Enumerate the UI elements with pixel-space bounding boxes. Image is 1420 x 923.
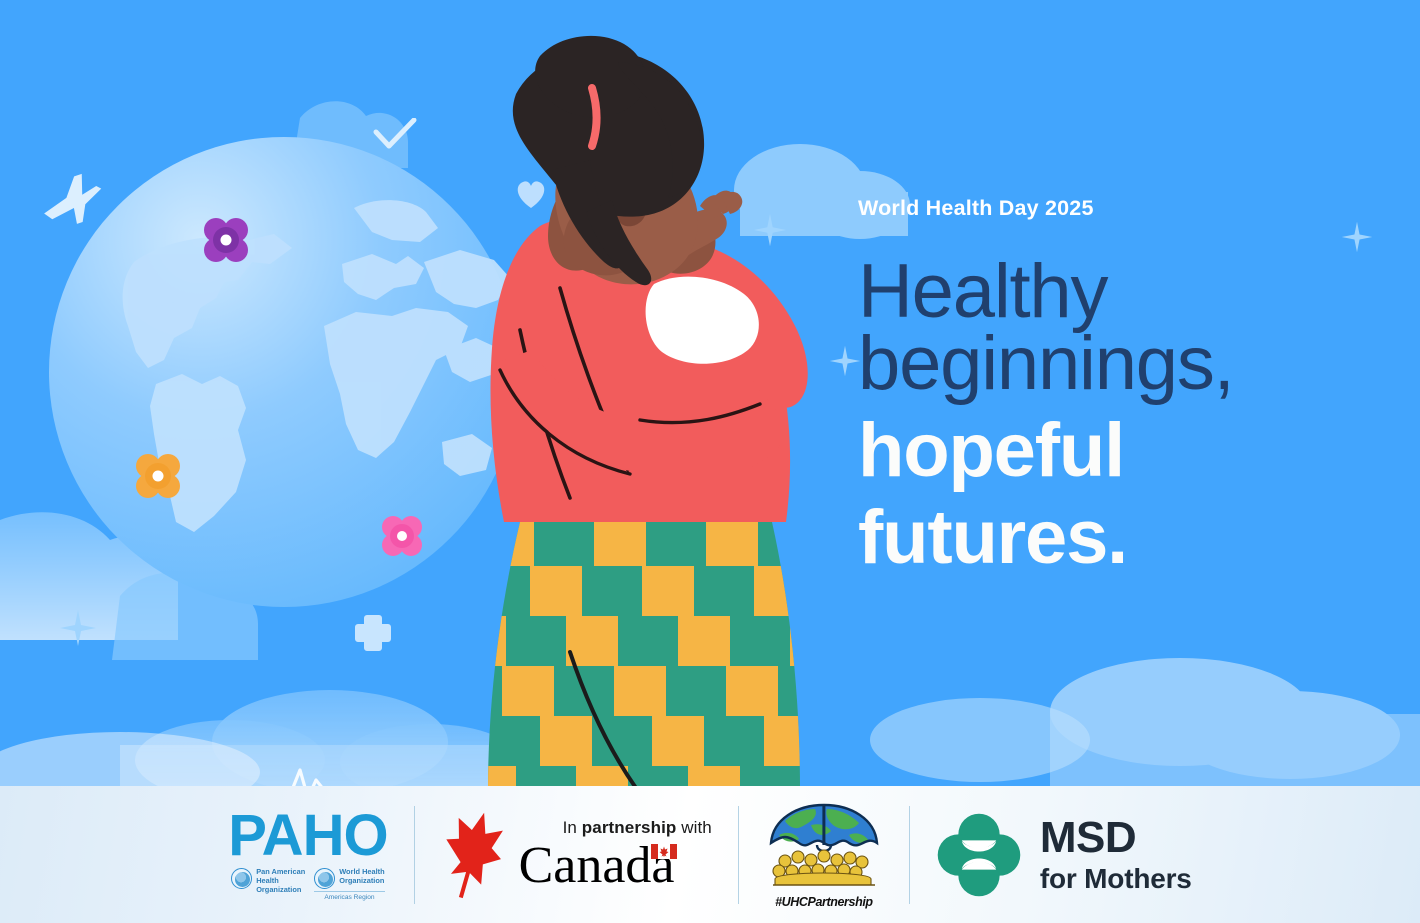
msd-wordmark: MSD [1040, 816, 1192, 860]
banner-text-block: World Health Day 2025 Healthy beginnings… [858, 198, 1338, 575]
who-org-lines: World Health Organization [339, 867, 384, 885]
paho-wordmark: PAHO [228, 808, 387, 863]
headline-line-4: futures. [858, 502, 1338, 575]
paho-seal-icon [231, 868, 252, 889]
who-region-label: Americas Region [314, 891, 384, 901]
partner-logo-bar: PAHO Pan American Health Organization [0, 786, 1420, 923]
who-seal-icon [314, 868, 335, 889]
canada-partnership-label: In partnership with [563, 818, 712, 838]
msd-subtitle: for Mothers [1040, 865, 1192, 893]
headline-line-3: hopeful [858, 415, 1338, 488]
logo-msd-for-mothers[interactable]: MSD for Mothers [910, 800, 1218, 910]
eyebrow-label: World Health Day 2025 [858, 198, 1338, 220]
who-mark: World Health Organization Americas Regio… [314, 867, 384, 901]
canada-wordmark: Canada [519, 840, 675, 892]
skirt [428, 516, 842, 790]
logo-paho[interactable]: PAHO Pan American Health Organization [202, 800, 413, 910]
pan-american-health-organization-mark: Pan American Health Organization [231, 867, 305, 894]
headline-line-1: Healthy [858, 256, 1338, 329]
headline-line-2: beginnings, [858, 328, 1338, 401]
uhc-hashtag-label: #UHCPartnership [775, 895, 873, 909]
logo-uhc-partnership[interactable]: #UHCPartnership [739, 800, 909, 910]
logo-canada[interactable]: In partnership with Canada [415, 800, 738, 910]
banner-canvas: World Health Day 2025 Healthy beginnings… [0, 0, 1420, 923]
paho-org-lines: Pan American Health Organization [256, 867, 305, 894]
canada-flag-icon [651, 844, 677, 859]
maple-leaf-icon [441, 809, 503, 901]
msd-flower-icon [936, 812, 1022, 898]
uhc-umbrella-crowd-icon [765, 801, 883, 893]
